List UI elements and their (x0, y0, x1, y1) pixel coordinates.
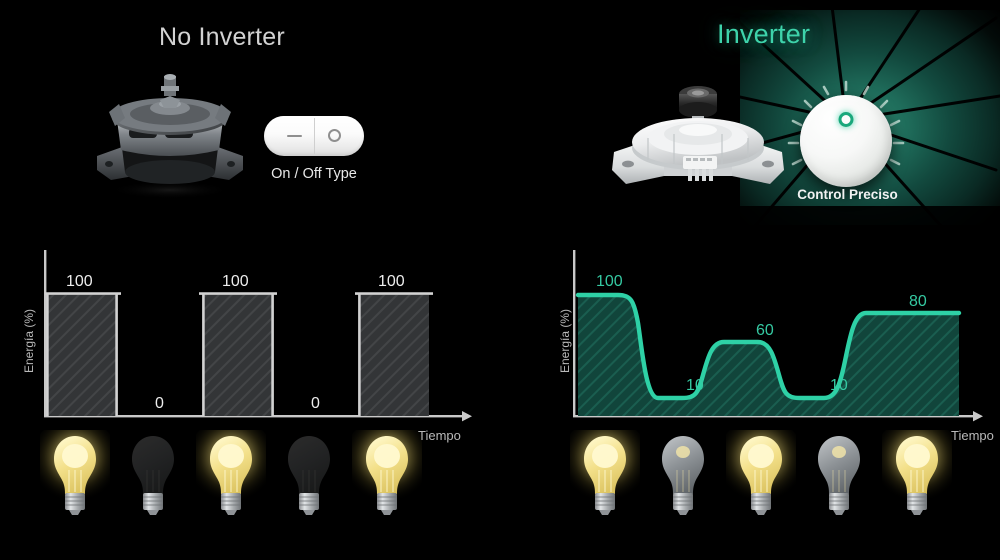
bulb-1 (570, 430, 640, 522)
bulb-1 (40, 430, 110, 522)
on-off-toggle[interactable] (264, 116, 364, 156)
knob-body[interactable] (800, 95, 892, 187)
circle-icon (328, 129, 341, 142)
control-preciso-label: Control Preciso (795, 187, 900, 202)
value-label-10-a: 10 (686, 377, 704, 395)
bulb-5 (882, 430, 952, 522)
washing-machine-motor-white-icon (608, 72, 788, 197)
bulb-2 (648, 430, 718, 522)
value-label-100-b: 100 (222, 273, 249, 291)
light-bulb-icon (274, 430, 344, 522)
y-axis-label-left: Energía (%) (22, 309, 36, 373)
page-title-no-inverter: No Inverter (159, 23, 285, 52)
bulb-4 (274, 430, 344, 522)
value-label-0-b: 0 (311, 395, 320, 413)
chart-no-inverter: Energía (%) 100 0 100 0 100 (0, 245, 500, 445)
light-bulb-icon (118, 430, 188, 522)
light-bulb-icon (648, 430, 718, 522)
value-label-80: 80 (909, 293, 927, 311)
toggle-divider (314, 118, 315, 154)
bulb-5 (352, 430, 422, 522)
washing-machine-motor-dark-icon (85, 68, 255, 198)
page-title-inverter: Inverter (717, 19, 810, 50)
bulb-3 (726, 430, 796, 522)
bulb-2 (118, 430, 188, 522)
y-axis-label-right: Energía (%) (558, 309, 572, 373)
light-bulb-icon (726, 430, 796, 522)
bar-group (45, 294, 433, 416)
value-label-100: 100 (596, 273, 623, 291)
value-label-10-b: 10 (830, 377, 848, 395)
light-bulb-icon (882, 430, 952, 522)
value-label-0-a: 0 (155, 395, 164, 413)
light-bulb-icon (40, 430, 110, 522)
chart-inverter: Energía (%) 100 10 60 10 80 (500, 245, 1000, 445)
precise-control-knob[interactable] (800, 95, 892, 187)
dash-icon (287, 135, 302, 137)
value-label-100-a: 100 (66, 273, 93, 291)
green-ring-led-icon (839, 112, 854, 127)
light-bulb-icon (570, 430, 640, 522)
chart-inverter-svg (500, 245, 1000, 445)
comparison-infographic: No Inverter Inverter (0, 0, 1000, 560)
light-bulb-icon (352, 430, 422, 522)
value-label-60: 60 (756, 322, 774, 340)
bulb-4 (804, 430, 874, 522)
value-label-100-c: 100 (378, 273, 405, 291)
bulb-3 (196, 430, 266, 522)
bulb-row-inverter (570, 430, 970, 520)
light-bulb-icon (804, 430, 874, 522)
bulb-row-no-inverter (40, 430, 460, 520)
on-off-type-label: On / Off Type (250, 166, 378, 182)
light-bulb-icon (196, 430, 266, 522)
